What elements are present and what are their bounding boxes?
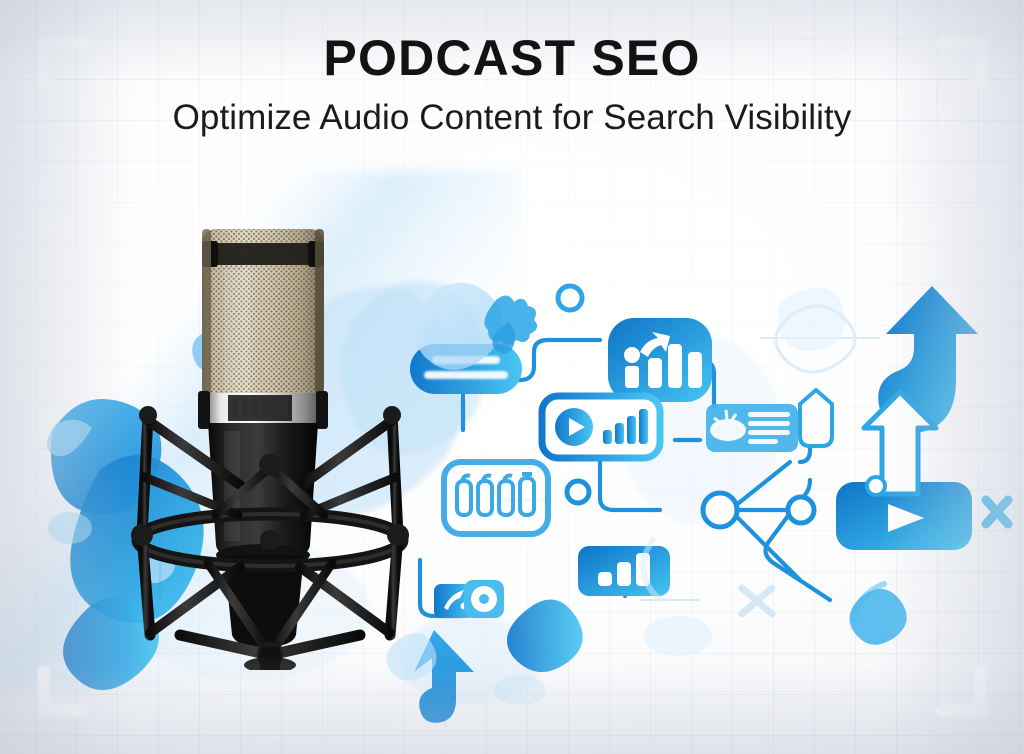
banner-canvas: PODCAST SEO Optimize Audio Content for S… bbox=[0, 0, 1024, 754]
page-subtitle: Optimize Audio Content for Search Visibi… bbox=[0, 99, 1024, 138]
page-title: PODCAST SEO bbox=[0, 33, 1024, 83]
